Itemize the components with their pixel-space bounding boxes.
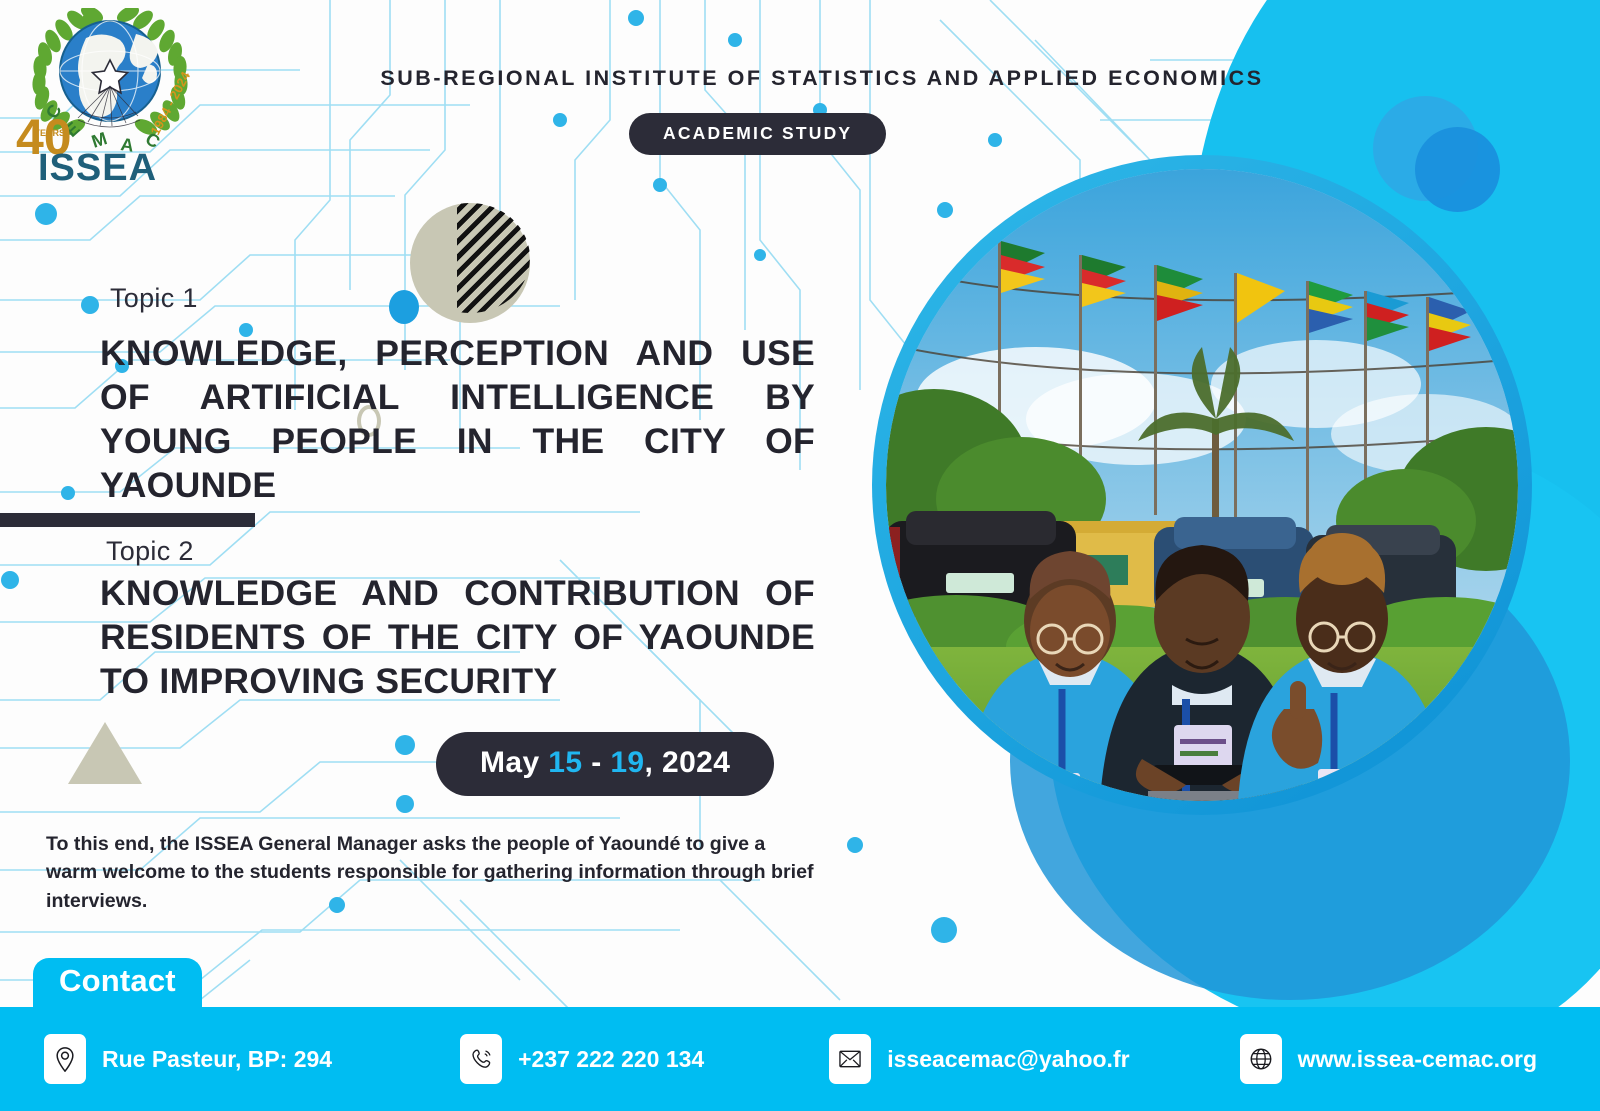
date-month: May bbox=[480, 746, 548, 779]
contact-address-value: Rue Pasteur, BP: 294 bbox=[102, 1046, 332, 1073]
envelope-icon bbox=[829, 1034, 871, 1084]
photo-ring-border bbox=[872, 155, 1532, 815]
date-separator: - bbox=[582, 746, 610, 779]
svg-text:ISSEA: ISSEA bbox=[38, 147, 157, 188]
section-divider bbox=[0, 513, 255, 527]
globe-icon bbox=[1240, 1034, 1282, 1084]
topic-1-label: Topic 1 bbox=[110, 283, 198, 314]
contact-phone-value: +237 222 220 134 bbox=[518, 1046, 704, 1073]
issea-cemac-logo: C E M A C 40 YEARS 1984 - 2024 ISSEA bbox=[8, 8, 213, 188]
poster-canvas: C E M A C 40 YEARS 1984 - 2024 ISSEA SUB… bbox=[0, 0, 1600, 1111]
decorative-blue-dot bbox=[389, 290, 419, 324]
location-pin-icon bbox=[44, 1034, 86, 1084]
contact-item-website: www.issea-cemac.org bbox=[1240, 1034, 1537, 1084]
phone-icon bbox=[460, 1034, 502, 1084]
date-day-start: 15 bbox=[548, 746, 582, 779]
photo-image bbox=[886, 169, 1518, 801]
contact-item-email: isseacemac@yahoo.fr bbox=[829, 1034, 1129, 1084]
contact-details-row: Rue Pasteur, BP: 294 +237 222 220 134 is… bbox=[0, 1007, 1600, 1111]
survey-team-photo bbox=[872, 155, 1532, 815]
topic-2-label: Topic 2 bbox=[106, 536, 194, 567]
date-year: , 2024 bbox=[645, 746, 731, 779]
announcement-note: To this end, the ISSEA General Manager a… bbox=[46, 830, 816, 915]
status-badge-academic-study: ACADEMIC STUDY bbox=[629, 113, 886, 155]
contact-section-label: Contact bbox=[33, 958, 202, 1007]
svg-text:YEARS: YEARS bbox=[34, 128, 65, 138]
decorative-striped-circle bbox=[457, 203, 530, 313]
topic-2-title: KNOWLEDGE AND CONTRIBUTION OF RESIDENTS … bbox=[100, 571, 815, 703]
page-title: SUB-REGIONAL INSTITUTE OF STATISTICS AND… bbox=[282, 66, 1362, 91]
event-date-badge: May 15 - 19, 2024 bbox=[436, 732, 774, 796]
contact-email-value: isseacemac@yahoo.fr bbox=[887, 1046, 1129, 1073]
topic-1-title: KNOWLEDGE, PERCEPTION AND USE OF ARTIFIC… bbox=[100, 331, 815, 507]
date-day-end: 19 bbox=[610, 746, 644, 779]
contact-item-address: Rue Pasteur, BP: 294 bbox=[44, 1034, 332, 1084]
contact-item-phone: +237 222 220 134 bbox=[460, 1034, 704, 1084]
decorative-tan-triangle bbox=[68, 722, 142, 784]
contact-website-value: www.issea-cemac.org bbox=[1298, 1046, 1537, 1073]
